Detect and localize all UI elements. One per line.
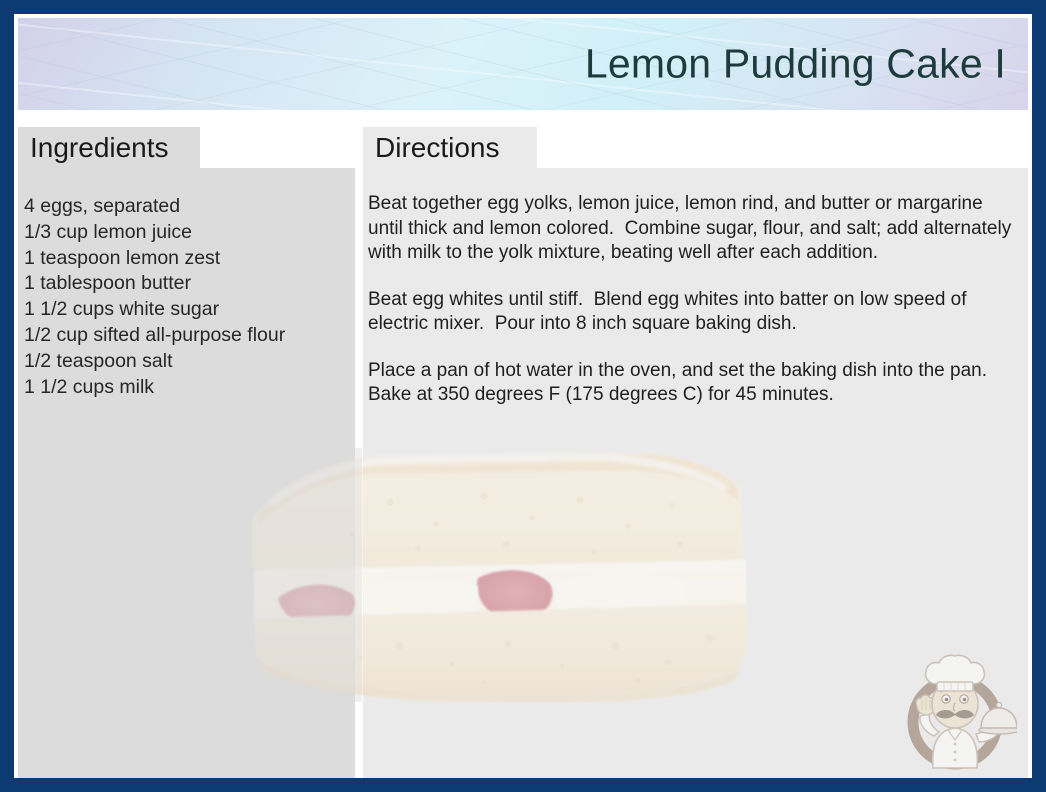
chef-logo [893, 648, 1017, 772]
directions-heading: Directions [375, 132, 499, 164]
directions-heading-tab: Directions [363, 127, 537, 168]
directions-paragraph: Place a pan of hot water in the oven, an… [368, 359, 1020, 408]
list-item: 1/3 cup lemon juice [24, 220, 344, 246]
directions-paragraph: Beat together egg yolks, lemon juice, le… [368, 192, 1020, 266]
ingredients-list: 4 eggs, separated 1/3 cup lemon juice 1 … [24, 194, 344, 400]
chef-logo-illustration [893, 648, 1017, 772]
list-item: 1/2 cup sifted all-purpose flour [24, 323, 344, 349]
list-item: 1 1/2 cups white sugar [24, 297, 344, 323]
list-item: 4 eggs, separated [24, 194, 344, 220]
list-item: 1 teaspoon lemon zest [24, 246, 344, 272]
list-item: 1 tablespoon butter [24, 271, 344, 297]
ingredients-heading-tab: Ingredients [18, 127, 200, 168]
ingredients-heading: Ingredients [30, 132, 169, 164]
recipe-card: Lemon Pudding Cake I Ingredients 4 eggs,… [0, 0, 1046, 792]
directions-paragraph: Beat egg whites until stiff. Blend egg w… [368, 288, 1020, 337]
list-item: 1/2 teaspoon salt [24, 349, 344, 375]
directions-body: Beat together egg yolks, lemon juice, le… [368, 192, 1020, 430]
list-item: 1 1/2 cups milk [24, 375, 344, 401]
title-banner: Lemon Pudding Cake I [18, 18, 1028, 110]
page-title: Lemon Pudding Cake I [585, 41, 1006, 88]
